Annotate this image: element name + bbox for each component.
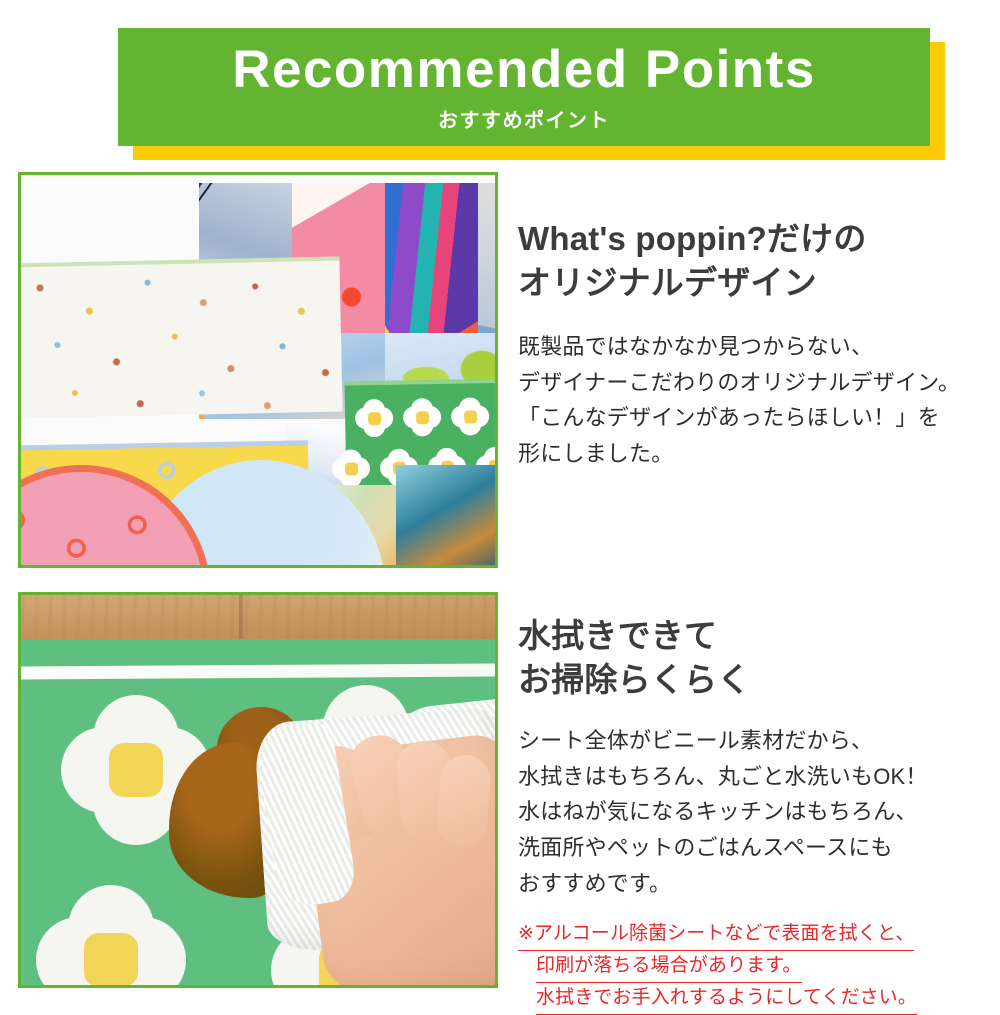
body-line: 水はねが気になるキッチンはもちろん、 [518, 794, 986, 830]
body-line: シート全体がビニール素材だから、 [518, 723, 986, 759]
heading-line: お掃除らくらく [518, 658, 986, 702]
body-line: 既製品ではなかなか見つからない、 [518, 329, 986, 365]
photo-design-sheets [18, 172, 498, 568]
page-title: Recommended Points [232, 43, 816, 97]
finger [436, 753, 492, 848]
body-line: 「こんなデザインがあったらほしい！」を [518, 400, 986, 436]
design-sheet-terrazzo [21, 257, 343, 419]
photo-design-sheets-content [21, 175, 495, 565]
flower-icon [403, 398, 442, 437]
heading-line: 水拭きできて [518, 614, 986, 658]
page-subtitle: おすすめポイント [438, 104, 610, 133]
photo-wiping-mat [18, 592, 498, 988]
flower-icon [451, 397, 490, 436]
flower-icon [355, 399, 394, 438]
section-easy-cleaning: 水拭きできて お掃除らくらく シート全体がビニール素材だから、 水拭きはもちろん… [0, 592, 1000, 992]
flower-icon [332, 449, 371, 488]
section-body-original-design: 既製品ではなかなか見つからない、 デザイナーこだわりのオリジナルデザイン。 「こ… [518, 329, 986, 472]
design-sheet-graffiti-3 [385, 183, 478, 333]
header-banner: Recommended Points おすすめポイント [0, 0, 1000, 175]
body-line: 洗面所やペットのごはんスペースにも [518, 830, 986, 866]
caution-note-line: 水拭きでお手入れするようにしてください。 [536, 983, 917, 1015]
flower-icon [36, 885, 186, 985]
banner-green-panel: Recommended Points おすすめポイント [118, 28, 930, 146]
text-column-original-design: What's poppin?だけの オリジナルデザイン 既製品ではなかなか見つか… [518, 172, 986, 472]
design-sheet-graffiti-4 [478, 183, 495, 333]
body-line: 形にしました。 [518, 436, 986, 472]
section-original-design: What's poppin?だけの オリジナルデザイン 既製品ではなかなか見つか… [0, 172, 1000, 572]
caution-note-line: 印刷が落ちる場合があります。 [536, 951, 802, 983]
body-line: 水拭きはもちろん、丸ごと水洗いもOK！ [518, 759, 986, 795]
section-body-easy-cleaning: シート全体がビニール素材だから、 水拭きはもちろん、丸ごと水洗いもOK！ 水はね… [518, 723, 986, 901]
design-sheet-marble-2 [396, 465, 495, 565]
photo-wiping-mat-content [21, 595, 495, 985]
section-heading-original-design: What's poppin?だけの オリジナルデザイン [518, 217, 986, 304]
body-line: デザイナーこだわりのオリジナルデザイン。 [518, 365, 986, 401]
text-column-easy-cleaning: 水拭きできて お掃除らくらく シート全体がビニール素材だから、 水拭きはもちろん… [518, 592, 986, 1015]
body-line: おすすめです。 [518, 866, 986, 902]
section-heading-easy-cleaning: 水拭きできて お掃除らくらく [518, 614, 986, 701]
caution-note-line: ※アルコール除菌シートなどで表面を拭くと、 [518, 919, 914, 951]
heading-line: What's poppin?だけの [518, 217, 986, 261]
caution-note: ※アルコール除菌シートなどで表面を拭くと、 印刷が落ちる場合があります。 水拭き… [518, 919, 986, 1015]
heading-line: オリジナルデザイン [518, 261, 986, 305]
